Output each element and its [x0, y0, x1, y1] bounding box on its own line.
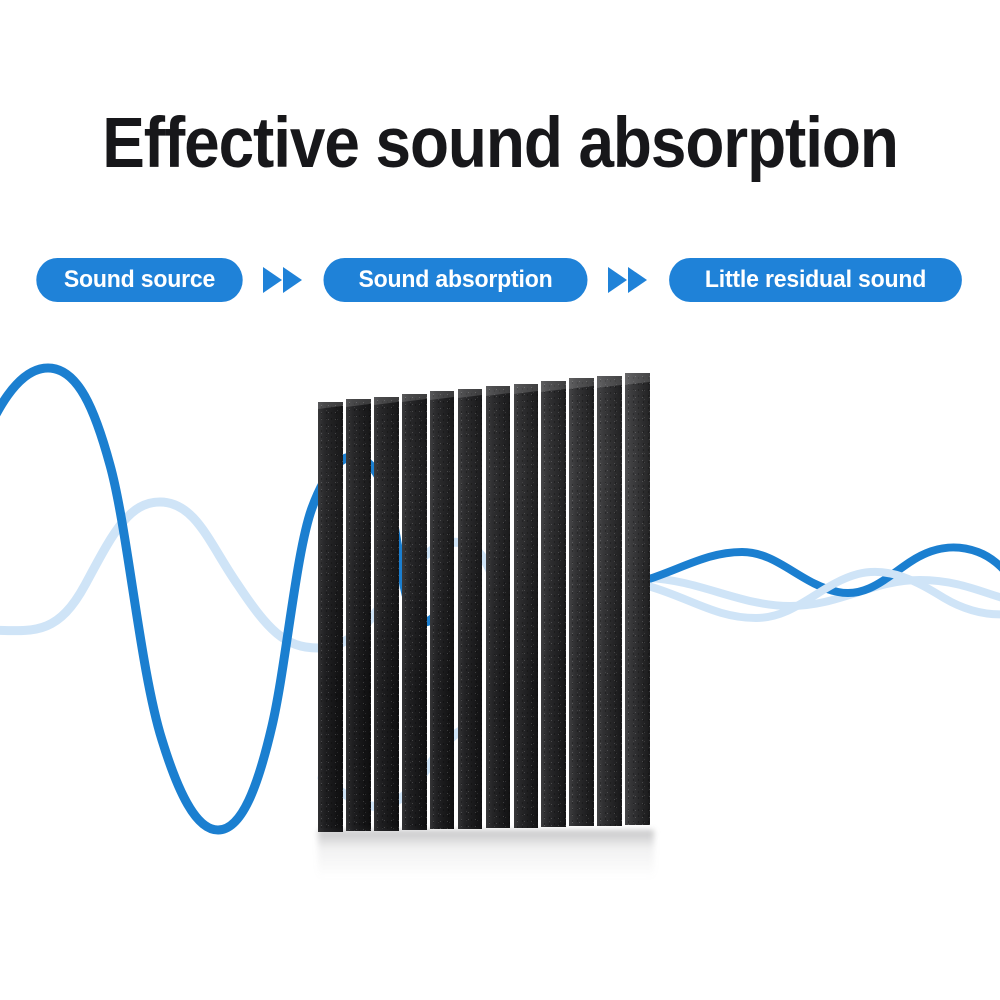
flow-step-little-residual-sound[interactable]: Little residual sound — [669, 258, 962, 302]
flow-step-label: Little residual sound — [705, 266, 926, 294]
product-infographic: Effective sound absorption Sound source … — [0, 0, 1000, 1000]
flow-step-sound-source[interactable]: Sound source — [36, 258, 242, 302]
foam-texture — [625, 373, 650, 825]
foam-texture — [346, 399, 371, 831]
flow-step-sound-absorption[interactable]: Sound absorption — [323, 258, 587, 302]
flow-step-label: Sound absorption — [358, 266, 552, 294]
chevron-right-icon — [263, 267, 282, 293]
foam-texture — [402, 394, 427, 830]
foam-wedge — [486, 386, 511, 828]
foam-texture — [486, 386, 511, 828]
foam-wedge — [318, 402, 343, 832]
foam-texture — [318, 402, 343, 832]
foam-texture — [458, 389, 483, 829]
foam-wedge — [541, 381, 566, 827]
foam-texture — [374, 397, 399, 831]
double-chevron-right-icon-2 — [608, 258, 647, 302]
process-flow: Sound source Sound absorption Little res… — [32, 250, 968, 310]
foam-wedge — [597, 376, 622, 826]
foam-wedge — [430, 391, 455, 829]
foam-texture — [597, 376, 622, 826]
double-chevron-right-icon-1 — [263, 258, 302, 302]
chevron-right-icon — [283, 267, 302, 293]
foam-texture — [430, 391, 455, 829]
flow-step-label: Sound source — [64, 266, 215, 294]
foam-wedge — [625, 373, 650, 825]
foam-texture — [514, 384, 539, 828]
page-title: Effective sound absorption — [50, 104, 950, 184]
foam-wedge — [458, 389, 483, 829]
foam-wedge — [402, 394, 427, 830]
acoustic-foam-panel — [318, 380, 650, 832]
foam-wedge — [569, 378, 594, 826]
foam-wedge — [514, 384, 539, 828]
foam-wedge — [374, 397, 399, 831]
foam-texture — [569, 378, 594, 826]
chevron-right-icon — [628, 267, 647, 293]
foam-texture — [541, 381, 566, 827]
foam-wedge — [346, 399, 371, 831]
chevron-right-icon — [608, 267, 627, 293]
